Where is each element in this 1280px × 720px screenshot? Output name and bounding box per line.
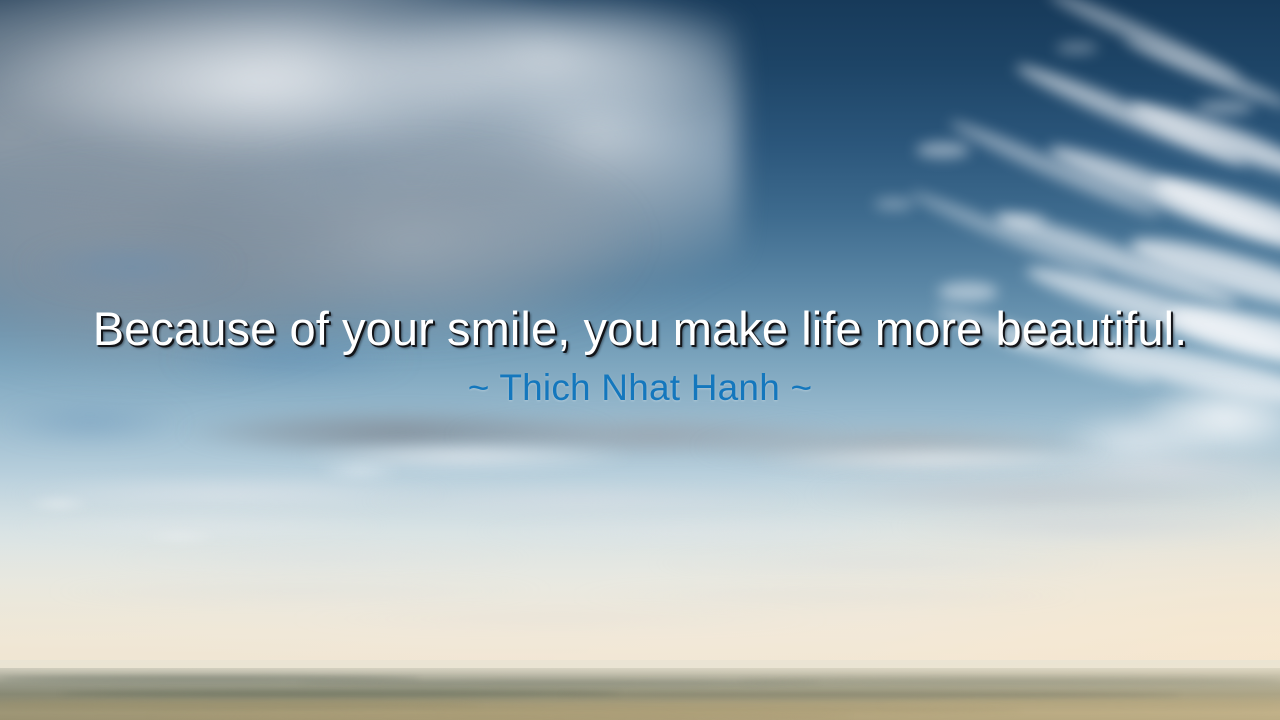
quote-text: Because of your smile, you make life mor… — [0, 303, 1280, 355]
quote-block: Because of your smile, you make life mor… — [0, 303, 1280, 409]
cloud-mass-left-highlight — [0, 0, 720, 170]
quote-card: Because of your smile, you make life mor… — [0, 0, 1280, 720]
atmospheric-haze-veil — [0, 470, 1280, 670]
quote-author: ~ Thich Nhat Hanh ~ — [0, 367, 1280, 409]
